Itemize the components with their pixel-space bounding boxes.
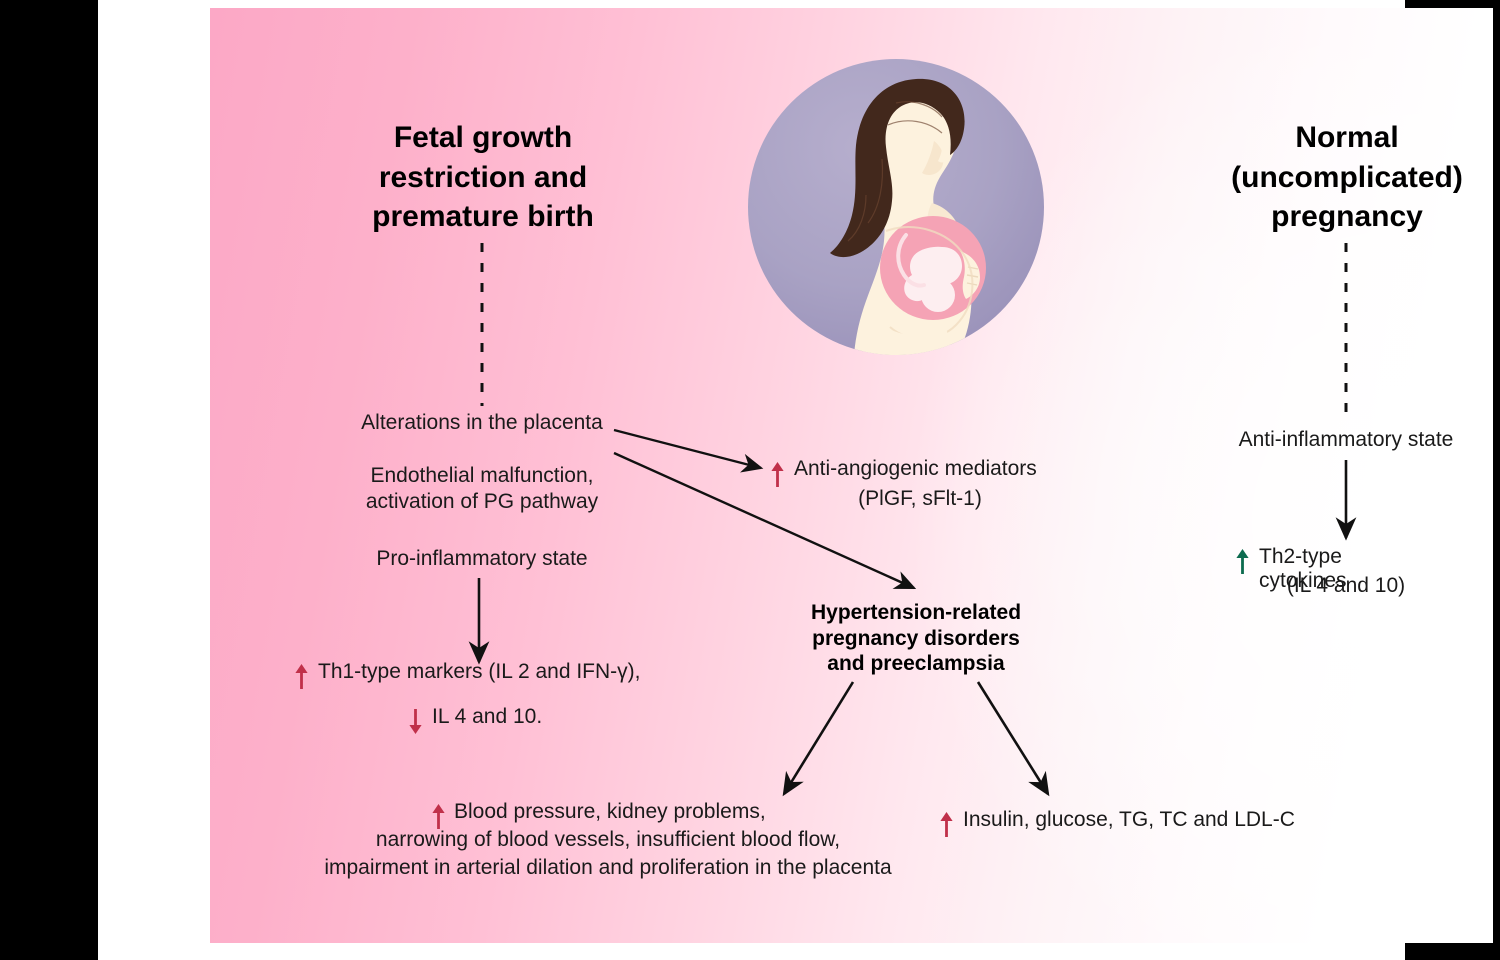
node-th1-markers: Th1-type markers (IL 2 and IFN-γ), [294,660,640,687]
node-anti-inflammatory-state: Anti-inflammatory state [1196,427,1496,453]
outcome-left-line1: Blood pressure, kidney problems, [431,800,766,827]
node-th2-label-2: (IL 4 and 10) [1221,573,1471,599]
up-arrow-green-icon [1235,548,1250,575]
node-il4-il10-decrease: IL 4 and 10. [408,705,542,732]
node-anti-angiogenic-mediators: Anti-angiogenic mediators [770,457,1037,484]
figure-canvas: Fetal growth restriction and premature b… [0,0,1500,960]
left-column-heading: Fetal growth restriction and premature b… [323,118,643,237]
node-pro-inflammatory-state: Pro-inflammatory state [302,546,662,572]
node-il4-il10-label: IL 4 and 10. [432,705,542,729]
outcome-right: Insulin, glucose, TG, TC and LDL-C [939,808,1295,835]
figure-page: Fetal growth restriction and premature b… [98,0,1405,960]
pregnant-woman-illustration [746,55,1046,365]
up-arrow-red-icon [431,803,446,830]
node-anti-angiogenic-label-2: (PlGF, sFlt-1) [770,486,1070,512]
down-arrow-red-icon [408,708,423,735]
node-endothelial-malfunction: Endothelial malfunction, activation of P… [302,463,662,514]
right-column-heading: Normal (uncomplicated) pregnancy [1188,118,1500,237]
node-th1-markers-label: Th1-type markers (IL 2 and IFN-γ), [318,660,640,684]
node-hypertension-disorders: Hypertension-related pregnancy disorders… [766,600,1066,677]
up-arrow-red-icon [939,811,954,838]
outcome-right-label: Insulin, glucose, TG, TC and LDL-C [963,808,1295,832]
outcome-left-label-2: narrowing of blood vessels, insufficient… [288,827,928,853]
node-alterations-placenta: Alterations in the placenta [302,410,662,436]
node-anti-angiogenic-label-1: Anti-angiogenic mediators [794,457,1037,481]
up-arrow-red-icon [770,461,785,488]
outcome-left-label-1: Blood pressure, kidney problems, [454,800,766,824]
up-arrow-red-icon [294,663,309,690]
outcome-left-label-3: impairment in arterial dilation and prol… [288,855,928,881]
